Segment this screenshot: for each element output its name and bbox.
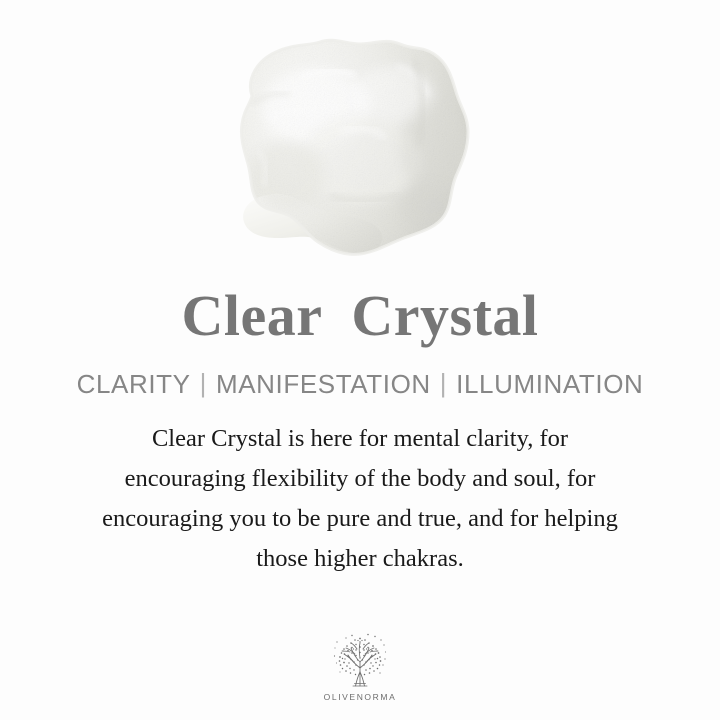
keyword-separator-1: | (191, 368, 216, 399)
brand-name: OLIVENORMA (324, 692, 397, 702)
description-line: Clear Crystal is here for mental clarity… (40, 419, 680, 459)
description-line: encouraging you to be pure and true, and… (40, 499, 680, 539)
brand-logo: OLIVENORMA (0, 632, 720, 702)
raw-clear-quartz-crystal-icon (0, 0, 720, 285)
product-description: Clear Crystal is here for mental clarity… (40, 419, 680, 579)
crystal-body (240, 36, 472, 258)
keyword-list: CLARITY | MANIFESTATION | ILLUMINATION (77, 369, 644, 399)
description-line: encouraging flexibility of the body and … (40, 459, 680, 499)
tree-logo-icon (322, 632, 398, 690)
description-line: those higher chakras. (40, 539, 680, 579)
product-info-card: Clear Crystal CLARITY | MANIFESTATION | … (0, 0, 720, 720)
crystal-image-container (0, 0, 720, 285)
keyword-manifestation: MANIFESTATION (216, 369, 431, 400)
keyword-separator-2: | (431, 368, 456, 399)
keyword-illumination: ILLUMINATION (456, 369, 643, 400)
page-title: Clear Crystal (181, 285, 538, 347)
keyword-clarity: CLARITY (77, 369, 191, 400)
